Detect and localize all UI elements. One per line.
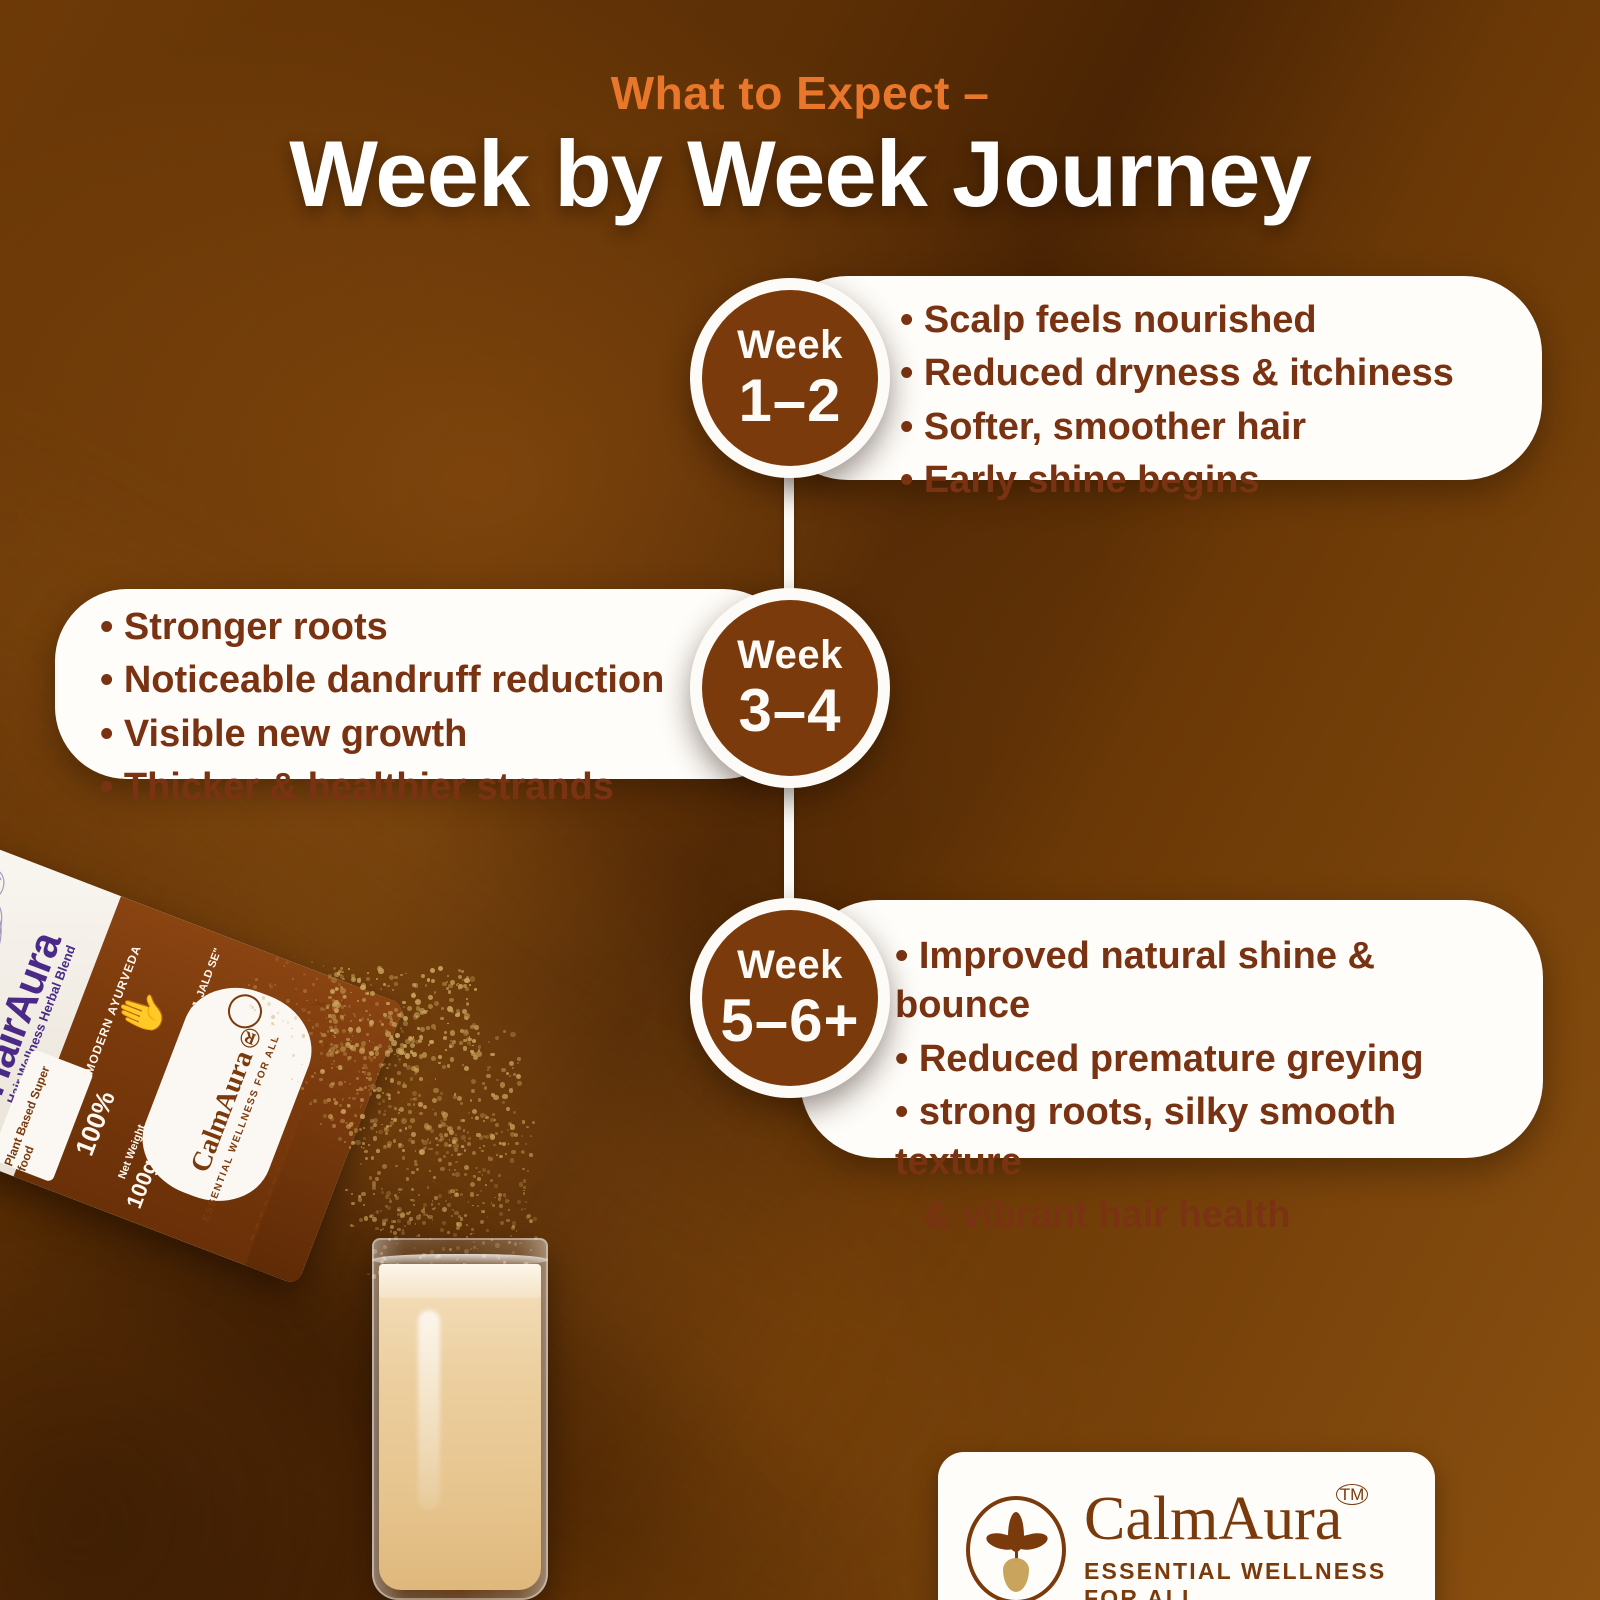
beverage-glass-image <box>372 1238 548 1600</box>
glass-vessel <box>372 1238 548 1600</box>
list-item: • strong roots, silky smooth texture <box>895 1088 1515 1187</box>
week-range: 1–2 <box>738 371 841 431</box>
list-item: • Improved natural shine & bounce <box>895 932 1515 1031</box>
week-card-3: • Improved natural shine & bounce • Redu… <box>800 900 1543 1158</box>
trademark-icon: TM <box>1336 1484 1369 1505</box>
list-item: • Scalp feels nourished <box>900 296 1454 345</box>
list-item: • Reduced dryness & itchiness <box>900 349 1454 398</box>
list-item: • Visible new growth <box>100 710 664 759</box>
brand-name: CalmAuraTM <box>1084 1488 1342 1550</box>
brand-logo-text: CalmAuraTM ESSENTIAL WELLNESS FOR ALL <box>1084 1488 1435 1600</box>
list-item: • Noticeable dandruff reduction <box>100 656 664 705</box>
week-range: 5–6+ <box>720 991 859 1051</box>
list-item: • Stronger roots <box>100 603 664 652</box>
week-card-2: • Stronger roots • Noticeable dandruff r… <box>55 589 795 779</box>
week-badge-1: Week 1–2 <box>690 278 890 478</box>
glass-rim <box>372 1254 548 1266</box>
page-title: Week by Week Journey <box>0 120 1600 228</box>
week-badge-2-inner: Week 3–4 <box>702 600 878 776</box>
brand-logo-row: CalmAuraTM ESSENTIAL WELLNESS FOR ALL <box>966 1488 1435 1600</box>
oil-drop-icon <box>1003 1558 1029 1592</box>
sprout-oil-drop-icon <box>966 1496 1066 1600</box>
week-1-bullet-list: • Scalp feels nourished • Reduced drynes… <box>900 296 1454 510</box>
week-label: Week <box>737 635 843 675</box>
week-3-bullet-list: • Improved natural shine & bounce • Redu… <box>895 932 1515 1244</box>
list-item: • Early shine begins <box>900 456 1454 505</box>
week-badge-2: Week 3–4 <box>690 588 890 788</box>
list-item: • Thicker & healthier strands <box>100 763 664 812</box>
list-item-continuation: & vibrant hair health <box>895 1191 1515 1240</box>
glass-foam <box>379 1264 541 1298</box>
week-label: Week <box>737 945 843 985</box>
header-kicker: What to Expect – <box>0 66 1600 120</box>
week-badge-3-inner: Week 5–6+ <box>702 910 878 1086</box>
infographic-canvas: What to Expect – Week by Week Journey • … <box>0 0 1600 1600</box>
week-label: Week <box>737 325 843 365</box>
glass-liquid <box>379 1286 541 1590</box>
glass-highlight <box>418 1310 440 1510</box>
week-2-bullet-list: • Stronger roots • Noticeable dandruff r… <box>100 603 664 817</box>
list-item: • Reduced premature greying <box>895 1035 1515 1084</box>
week-badge-3: Week 5–6+ <box>690 898 890 1098</box>
brand-tagline: ESSENTIAL WELLNESS FOR ALL <box>1084 1558 1435 1600</box>
brand-logo-card: CalmAuraTM ESSENTIAL WELLNESS FOR ALL <box>938 1452 1435 1600</box>
week-range: 3–4 <box>738 681 841 741</box>
list-item: • Softer, smoother hair <box>900 403 1454 452</box>
week-badge-1-inner: Week 1–2 <box>702 290 878 466</box>
